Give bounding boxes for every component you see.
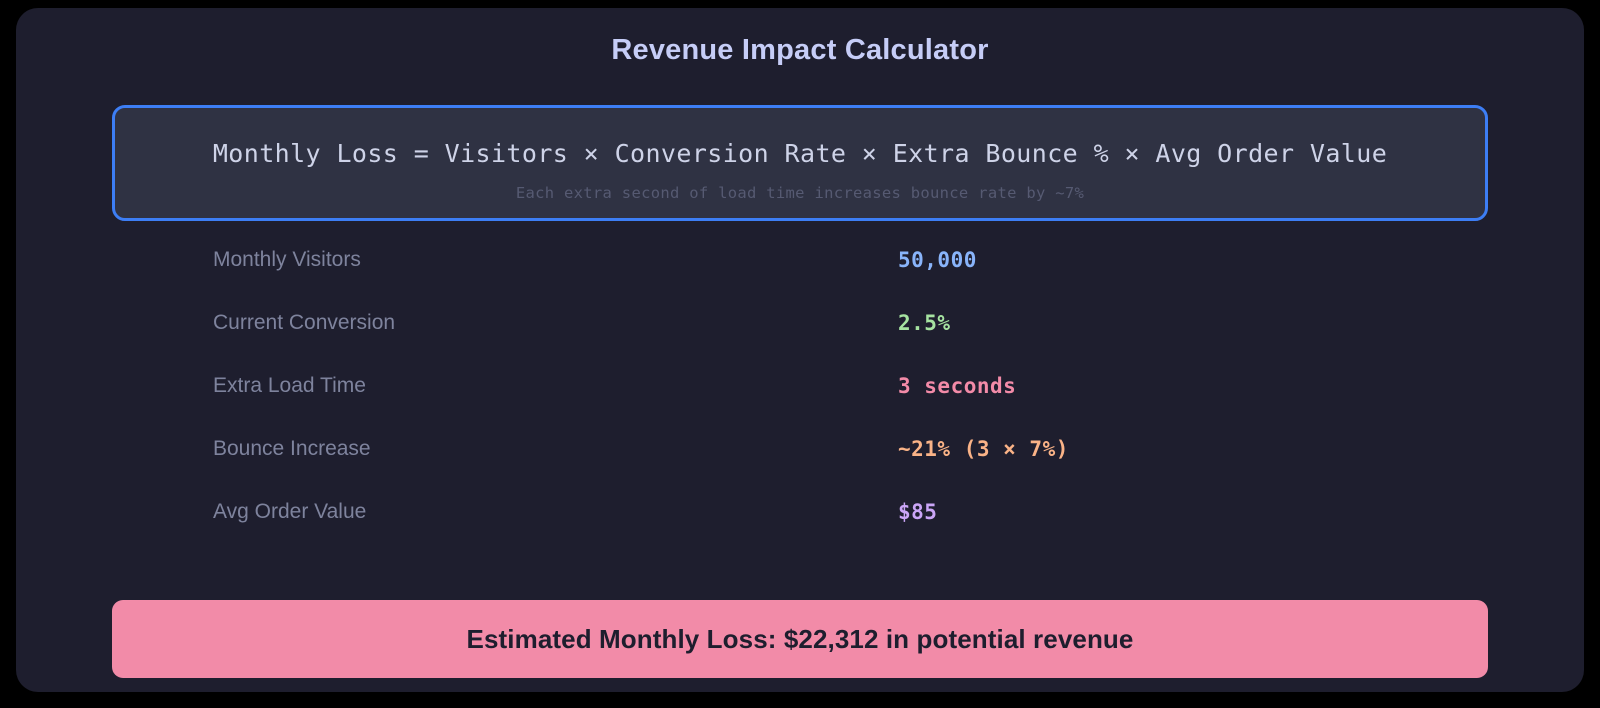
row-label-extra-load-time: Extra Load Time (213, 372, 366, 400)
row-value-current-conversion: 2.5% (898, 309, 951, 337)
row-value-bounce-increase: ~21% (3 × 7%) (898, 435, 1069, 463)
row-label-avg-order-value: Avg Order Value (213, 498, 366, 526)
row-label-bounce-increase: Bounce Increase (213, 435, 371, 463)
result-text: Estimated Monthly Loss: $22,312 in poten… (467, 624, 1134, 655)
list-item: Extra Load Time 3 seconds (213, 372, 1393, 435)
list-item: Monthly Visitors 50,000 (213, 246, 1393, 309)
row-value-monthly-visitors: 50,000 (898, 246, 977, 274)
formula-box: Monthly Loss = Visitors × Conversion Rat… (112, 105, 1488, 221)
calculator-card: Revenue Impact Calculator Monthly Loss =… (16, 8, 1584, 692)
row-value-extra-load-time: 3 seconds (898, 372, 1016, 400)
list-item: Current Conversion 2.5% (213, 309, 1393, 372)
page-title: Revenue Impact Calculator (16, 34, 1584, 67)
input-list: Monthly Visitors 50,000 Current Conversi… (213, 246, 1393, 561)
list-item: Avg Order Value $85 (213, 498, 1393, 561)
row-label-current-conversion: Current Conversion (213, 309, 395, 337)
result-banner: Estimated Monthly Loss: $22,312 in poten… (112, 600, 1488, 678)
row-label-monthly-visitors: Monthly Visitors (213, 246, 361, 274)
formula-expression: Monthly Loss = Visitors × Conversion Rat… (115, 139, 1485, 168)
row-value-avg-order-value: $85 (898, 498, 937, 526)
formula-note: Each extra second of load time increases… (115, 184, 1485, 202)
list-item: Bounce Increase ~21% (3 × 7%) (213, 435, 1393, 498)
